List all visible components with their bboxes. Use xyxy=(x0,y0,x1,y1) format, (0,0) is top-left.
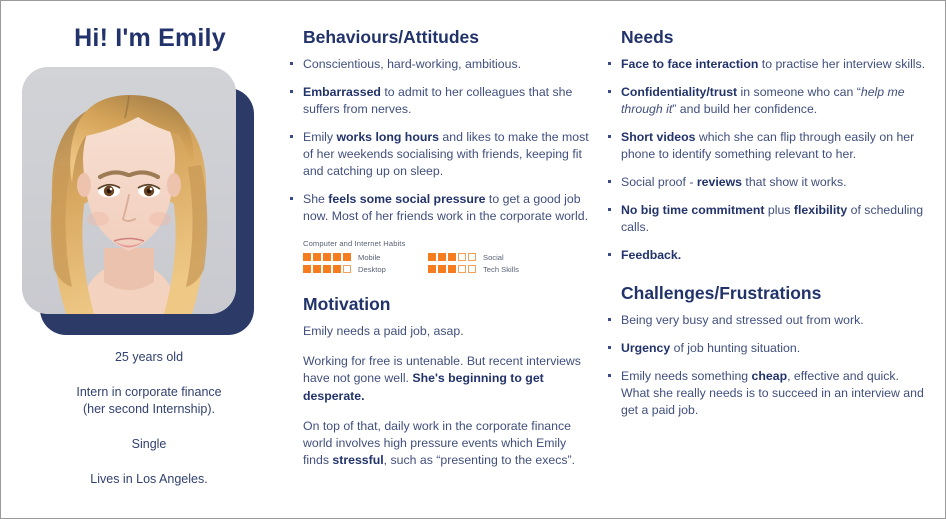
motivation-heading: Motivation xyxy=(303,294,589,314)
need-item-text: No big time commitment plus flexibility … xyxy=(621,203,923,234)
challenges-heading: Challenges/Frustrations xyxy=(621,283,927,303)
bio-location: Lives in Los Angeles. xyxy=(21,471,277,488)
bullet-dot-icon xyxy=(290,62,293,65)
habit-row: Desktop xyxy=(303,265,428,274)
persona-bio: 25 years old Intern in corporate finance… xyxy=(15,349,277,487)
need-item-text: Face to face interaction to practise her… xyxy=(621,57,925,71)
habit-rating-squares xyxy=(303,253,351,261)
habit-label: Desktop xyxy=(358,265,386,274)
bio-occupation-line1: Intern in corporate finance xyxy=(76,385,221,399)
behaviour-item-text: She feels some social pressure to get a … xyxy=(303,192,588,223)
motivation-body: Emily needs a paid job, asap.Working for… xyxy=(289,323,589,469)
persona-photo-block xyxy=(22,67,254,335)
habit-rating-squares xyxy=(428,253,476,261)
habit-rating-squares xyxy=(303,265,351,273)
challenge-item-text: Urgency of job hunting situation. xyxy=(621,341,800,355)
behaviours-list: Conscientious, hard-working, ambitious.E… xyxy=(289,56,589,225)
habit-square-filled xyxy=(313,265,321,273)
page-title: Hi! I'm Emily xyxy=(15,24,277,53)
habit-rating-squares xyxy=(428,265,476,273)
challenge-item: Emily needs something cheap, effective a… xyxy=(607,368,927,419)
challenge-item-text: Being very busy and stressed out from wo… xyxy=(621,313,864,327)
habit-square-empty xyxy=(343,265,351,273)
persona-middle-column: Behaviours/Attitudes Conscientious, hard… xyxy=(289,27,589,469)
habit-square-filled xyxy=(303,265,311,273)
motivation-paragraph: On top of that, daily work in the corpor… xyxy=(303,418,589,470)
behaviour-item: Emily works long hours and likes to make… xyxy=(289,129,589,180)
need-item-text: Feedback. xyxy=(621,248,681,262)
habit-square-filled xyxy=(448,265,456,273)
habit-square-filled xyxy=(303,253,311,261)
behaviour-item: Embarrassed to admit to her colleagues t… xyxy=(289,84,589,118)
bullet-dot-icon xyxy=(608,208,611,211)
habit-square-filled xyxy=(313,253,321,261)
habit-row: Social xyxy=(428,253,553,262)
bio-relationship: Single xyxy=(21,436,277,453)
bio-occupation-line2: (her second Internship). xyxy=(83,402,215,416)
bullet-dot-icon xyxy=(608,346,611,349)
habit-square-filled xyxy=(333,265,341,273)
behaviour-item: She feels some social pressure to get a … xyxy=(289,191,589,225)
habit-square-empty xyxy=(458,265,466,273)
habit-label: Mobile xyxy=(358,253,380,262)
habit-square-empty xyxy=(458,253,466,261)
habit-square-filled xyxy=(438,253,446,261)
behaviours-heading: Behaviours/Attitudes xyxy=(303,27,589,47)
need-item: Face to face interaction to practise her… xyxy=(607,56,927,73)
bullet-dot-icon xyxy=(608,318,611,321)
need-item: No big time commitment plus flexibility … xyxy=(607,202,927,236)
challenge-item: Being very busy and stressed out from wo… xyxy=(607,312,927,329)
need-item: Short videos which she can flip through … xyxy=(607,129,927,163)
habit-label: Social xyxy=(483,253,504,262)
bullet-dot-icon xyxy=(608,374,611,377)
needs-heading: Needs xyxy=(621,27,927,47)
challenges-list: Being very busy and stressed out from wo… xyxy=(607,312,927,419)
habit-square-filled xyxy=(343,253,351,261)
avatar xyxy=(22,67,236,314)
bullet-dot-icon xyxy=(608,180,611,183)
habits-grid: MobileSocialDesktopTech Skills xyxy=(303,253,553,277)
behaviour-item-text: Conscientious, hard-working, ambitious. xyxy=(303,57,521,71)
need-item-text: Short videos which she can flip through … xyxy=(621,130,914,161)
habit-label: Tech Skills xyxy=(483,265,519,274)
need-item-text: Confidentiality/trust in someone who can… xyxy=(621,85,905,116)
need-item: Confidentiality/trust in someone who can… xyxy=(607,84,927,118)
need-item: Social proof - reviews that show it work… xyxy=(607,174,927,191)
habit-square-empty xyxy=(468,265,476,273)
motivation-paragraph: Emily needs a paid job, asap. xyxy=(303,323,589,340)
habit-square-filled xyxy=(323,265,331,273)
habit-square-filled xyxy=(428,253,436,261)
challenge-item: Urgency of job hunting situation. xyxy=(607,340,927,357)
need-item-text: Social proof - reviews that show it work… xyxy=(621,175,847,189)
persona-card: Hi! I'm Emily xyxy=(0,0,946,519)
habit-square-filled xyxy=(438,265,446,273)
bullet-dot-icon xyxy=(290,197,293,200)
bullet-dot-icon xyxy=(290,135,293,138)
habit-square-filled xyxy=(323,253,331,261)
persona-right-column: Needs Face to face interaction to practi… xyxy=(607,27,927,419)
habit-square-filled xyxy=(428,265,436,273)
portrait-illustration xyxy=(22,67,236,314)
bullet-dot-icon xyxy=(608,62,611,65)
bio-age: 25 years old xyxy=(21,349,277,366)
bullet-dot-icon xyxy=(290,90,293,93)
bullet-dot-icon xyxy=(608,135,611,138)
needs-list: Face to face interaction to practise her… xyxy=(607,56,927,264)
habits-widget: Computer and Internet Habits MobileSocia… xyxy=(303,239,553,277)
habit-row: Tech Skills xyxy=(428,265,553,274)
behaviour-item-text: Embarrassed to admit to her colleagues t… xyxy=(303,85,572,116)
challenge-item-text: Emily needs something cheap, effective a… xyxy=(621,369,924,417)
habit-square-empty xyxy=(468,253,476,261)
habits-title: Computer and Internet Habits xyxy=(303,239,553,248)
habit-square-filled xyxy=(333,253,341,261)
motivation-paragraph: Working for free is untenable. But recen… xyxy=(303,353,589,405)
bullet-dot-icon xyxy=(608,253,611,256)
bullet-dot-icon xyxy=(608,90,611,93)
bio-occupation: Intern in corporate finance (her second … xyxy=(21,384,277,418)
need-item: Feedback. xyxy=(607,247,927,264)
habit-row: Mobile xyxy=(303,253,428,262)
behaviour-item: Conscientious, hard-working, ambitious. xyxy=(289,56,589,73)
habit-square-filled xyxy=(448,253,456,261)
persona-left-column: Hi! I'm Emily xyxy=(15,11,277,511)
behaviour-item-text: Emily works long hours and likes to make… xyxy=(303,130,589,178)
